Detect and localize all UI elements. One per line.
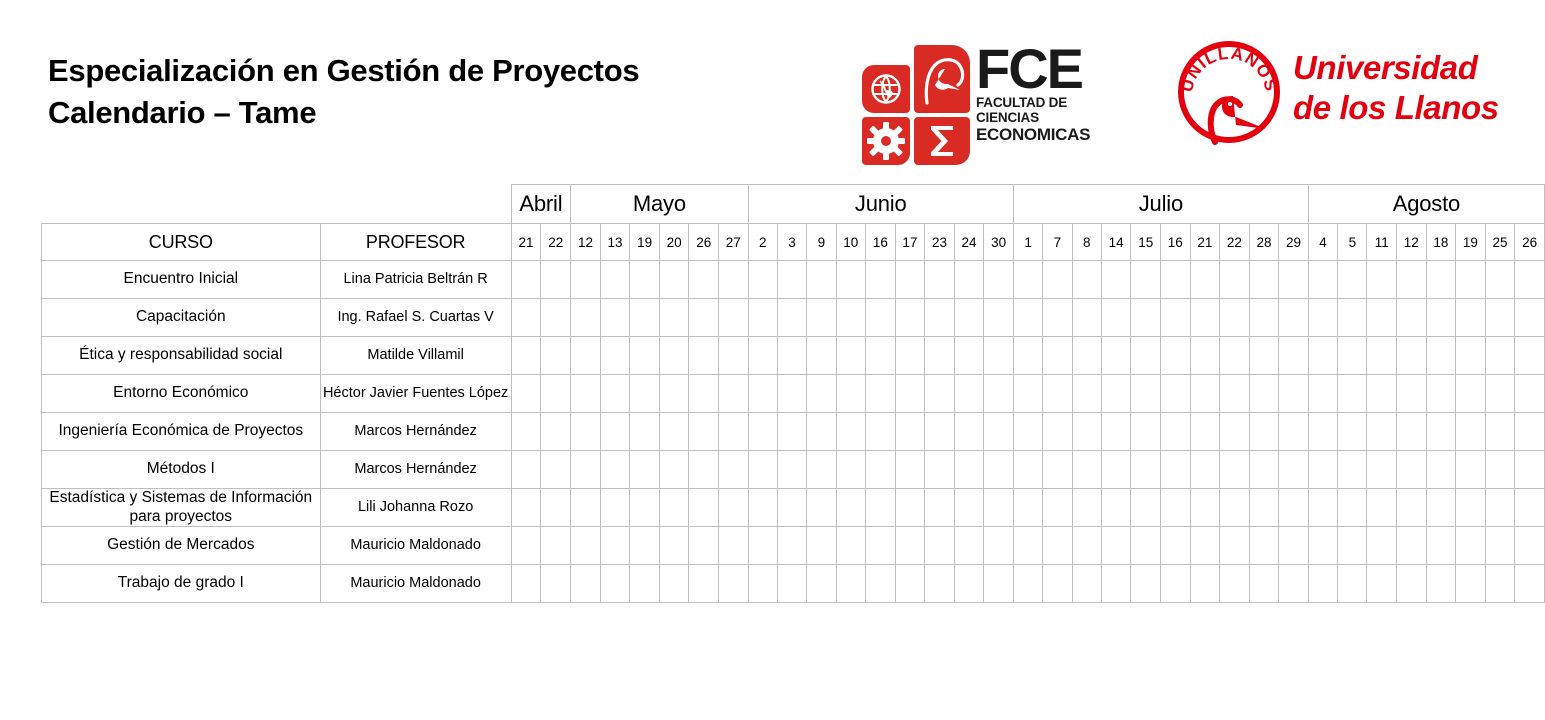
schedule-cell[interactable] — [984, 451, 1014, 489]
schedule-cell[interactable] — [1338, 299, 1367, 337]
schedule-cell[interactable] — [511, 527, 541, 565]
schedule-cell[interactable] — [954, 337, 984, 375]
schedule-cell[interactable] — [511, 413, 541, 451]
schedule-cell[interactable] — [1072, 261, 1101, 299]
schedule-cell[interactable] — [984, 489, 1014, 527]
schedule-cell[interactable] — [1279, 261, 1309, 299]
schedule-cell[interactable] — [1161, 489, 1191, 527]
schedule-cell[interactable] — [866, 337, 896, 375]
schedule-cell[interactable] — [630, 413, 660, 451]
schedule-cell[interactable] — [984, 337, 1014, 375]
schedule-cell[interactable] — [1101, 375, 1131, 413]
schedule-cell[interactable] — [1308, 299, 1337, 337]
schedule-cell[interactable] — [1131, 299, 1161, 337]
schedule-cell[interactable] — [1367, 337, 1397, 375]
schedule-cell[interactable] — [748, 261, 777, 299]
schedule-cell[interactable] — [925, 527, 955, 565]
schedule-cell[interactable] — [1043, 261, 1072, 299]
schedule-cell[interactable] — [1456, 489, 1486, 527]
schedule-cell[interactable] — [541, 337, 571, 375]
schedule-cell[interactable] — [748, 375, 777, 413]
schedule-cell[interactable] — [511, 451, 541, 489]
schedule-cell[interactable] — [807, 261, 836, 299]
schedule-cell[interactable] — [1190, 261, 1220, 299]
schedule-cell[interactable] — [1072, 565, 1101, 603]
schedule-cell[interactable] — [659, 489, 689, 527]
schedule-cell[interactable] — [1013, 451, 1042, 489]
schedule-cell[interactable] — [571, 261, 601, 299]
schedule-cell[interactable] — [1367, 375, 1397, 413]
schedule-cell[interactable] — [1101, 527, 1131, 565]
schedule-cell[interactable] — [1456, 413, 1486, 451]
schedule-cell[interactable] — [1161, 413, 1191, 451]
schedule-cell[interactable] — [1013, 261, 1042, 299]
schedule-cell[interactable] — [1338, 261, 1367, 299]
schedule-cell[interactable] — [1190, 337, 1220, 375]
schedule-cell-active[interactable] — [718, 337, 748, 375]
schedule-cell[interactable] — [836, 299, 866, 337]
schedule-cell[interactable] — [925, 337, 955, 375]
schedule-cell-active[interactable] — [511, 261, 541, 299]
schedule-cell[interactable] — [1101, 451, 1131, 489]
schedule-cell[interactable] — [1456, 565, 1486, 603]
schedule-cell[interactable] — [1426, 565, 1456, 603]
schedule-cell[interactable] — [984, 375, 1014, 413]
schedule-cell-active[interactable] — [571, 299, 601, 337]
schedule-cell[interactable] — [571, 565, 601, 603]
schedule-cell[interactable] — [1426, 527, 1456, 565]
schedule-cell[interactable] — [1190, 299, 1220, 337]
schedule-cell[interactable] — [1190, 375, 1220, 413]
schedule-cell[interactable] — [541, 565, 571, 603]
schedule-cell[interactable] — [1426, 451, 1456, 489]
schedule-cell[interactable] — [659, 565, 689, 603]
schedule-cell[interactable] — [925, 489, 955, 527]
schedule-cell[interactable] — [1131, 337, 1161, 375]
schedule-cell[interactable] — [689, 565, 719, 603]
schedule-cell[interactable] — [777, 565, 806, 603]
schedule-cell[interactable] — [659, 299, 689, 337]
schedule-cell[interactable] — [571, 413, 601, 451]
schedule-cell[interactable] — [1279, 565, 1309, 603]
schedule-cell[interactable] — [1338, 413, 1367, 451]
schedule-cell[interactable] — [1308, 527, 1337, 565]
schedule-cell[interactable] — [1190, 527, 1220, 565]
schedule-cell[interactable] — [1485, 299, 1515, 337]
schedule-cell[interactable] — [1013, 565, 1042, 603]
schedule-cell[interactable] — [1367, 299, 1397, 337]
schedule-cell[interactable] — [807, 527, 836, 565]
schedule-cell[interactable] — [511, 489, 541, 527]
schedule-cell[interactable] — [1279, 299, 1309, 337]
schedule-cell[interactable] — [1397, 375, 1427, 413]
schedule-cell[interactable] — [1426, 489, 1456, 527]
schedule-cell[interactable] — [1043, 299, 1072, 337]
schedule-cell[interactable] — [954, 489, 984, 527]
schedule-cell-active[interactable] — [1249, 451, 1279, 489]
schedule-cell[interactable] — [1397, 413, 1427, 451]
schedule-cell[interactable] — [1308, 451, 1337, 489]
schedule-cell[interactable] — [748, 565, 777, 603]
schedule-cell[interactable] — [600, 337, 630, 375]
schedule-cell[interactable] — [1397, 337, 1427, 375]
schedule-cell[interactable] — [807, 413, 836, 451]
schedule-cell[interactable] — [1072, 413, 1101, 451]
schedule-cell[interactable] — [1249, 527, 1279, 565]
schedule-cell[interactable] — [836, 451, 866, 489]
schedule-cell[interactable] — [807, 565, 836, 603]
schedule-cell[interactable] — [925, 565, 955, 603]
schedule-cell[interactable] — [600, 489, 630, 527]
schedule-cell[interactable] — [748, 489, 777, 527]
schedule-cell[interactable] — [630, 527, 660, 565]
schedule-cell[interactable] — [1220, 299, 1250, 337]
schedule-cell[interactable] — [659, 261, 689, 299]
schedule-cell[interactable] — [925, 375, 955, 413]
schedule-cell[interactable] — [1308, 261, 1337, 299]
schedule-cell[interactable] — [1161, 375, 1191, 413]
schedule-cell-active[interactable] — [1485, 565, 1515, 603]
schedule-cell-active[interactable] — [1161, 565, 1191, 603]
schedule-cell[interactable] — [1190, 489, 1220, 527]
schedule-cell[interactable] — [630, 375, 660, 413]
schedule-cell[interactable] — [925, 451, 955, 489]
schedule-cell[interactable] — [1220, 337, 1250, 375]
schedule-cell[interactable] — [600, 375, 630, 413]
schedule-cell[interactable] — [1515, 375, 1545, 413]
schedule-cell-active[interactable] — [600, 299, 630, 337]
schedule-cell[interactable] — [1338, 489, 1367, 527]
schedule-cell[interactable] — [836, 337, 866, 375]
schedule-cell[interactable] — [630, 451, 660, 489]
schedule-cell[interactable] — [1456, 527, 1486, 565]
schedule-cell[interactable] — [1308, 413, 1337, 451]
schedule-cell[interactable] — [748, 299, 777, 337]
schedule-cell[interactable] — [1338, 451, 1367, 489]
schedule-cell[interactable] — [1338, 565, 1367, 603]
schedule-cell[interactable] — [1043, 337, 1072, 375]
schedule-cell-active[interactable] — [1367, 527, 1397, 565]
schedule-cell[interactable] — [1131, 375, 1161, 413]
schedule-cell[interactable] — [1308, 375, 1337, 413]
schedule-cell[interactable] — [630, 337, 660, 375]
schedule-cell[interactable] — [1220, 565, 1250, 603]
schedule-cell[interactable] — [895, 261, 925, 299]
schedule-cell[interactable] — [571, 451, 601, 489]
schedule-cell[interactable] — [954, 451, 984, 489]
schedule-cell[interactable] — [807, 451, 836, 489]
schedule-cell[interactable] — [984, 299, 1014, 337]
schedule-cell[interactable] — [1161, 451, 1191, 489]
schedule-cell[interactable] — [659, 337, 689, 375]
schedule-cell[interactable] — [1072, 375, 1101, 413]
schedule-cell[interactable] — [1013, 527, 1042, 565]
schedule-cell-active[interactable] — [600, 565, 630, 603]
schedule-cell[interactable] — [1426, 261, 1456, 299]
schedule-cell[interactable] — [1456, 375, 1486, 413]
schedule-cell[interactable] — [1485, 261, 1515, 299]
schedule-cell[interactable] — [777, 413, 806, 451]
schedule-cell[interactable] — [1367, 565, 1397, 603]
schedule-cell[interactable] — [1190, 413, 1220, 451]
schedule-cell[interactable] — [925, 299, 955, 337]
schedule-cell[interactable] — [659, 375, 689, 413]
schedule-cell[interactable] — [1101, 413, 1131, 451]
schedule-cell[interactable] — [1131, 451, 1161, 489]
schedule-cell[interactable] — [1043, 413, 1072, 451]
schedule-cell[interactable] — [1072, 451, 1101, 489]
schedule-cell[interactable] — [866, 299, 896, 337]
schedule-cell[interactable] — [895, 565, 925, 603]
schedule-cell[interactable] — [1485, 451, 1515, 489]
schedule-cell[interactable] — [1131, 413, 1161, 451]
schedule-cell[interactable] — [1308, 565, 1337, 603]
schedule-cell[interactable] — [659, 527, 689, 565]
schedule-cell[interactable] — [895, 451, 925, 489]
schedule-cell[interactable] — [1367, 489, 1397, 527]
schedule-cell[interactable] — [1072, 299, 1101, 337]
schedule-cell[interactable] — [1190, 565, 1220, 603]
schedule-cell[interactable] — [689, 375, 719, 413]
schedule-cell-active[interactable] — [807, 375, 836, 413]
schedule-cell-active[interactable] — [1279, 451, 1309, 489]
schedule-cell[interactable] — [954, 413, 984, 451]
schedule-cell[interactable] — [866, 261, 896, 299]
schedule-cell[interactable] — [895, 413, 925, 451]
schedule-cell[interactable] — [836, 413, 866, 451]
schedule-cell[interactable] — [1426, 375, 1456, 413]
schedule-cell[interactable] — [1161, 527, 1191, 565]
schedule-cell[interactable] — [748, 451, 777, 489]
schedule-cell[interactable] — [925, 261, 955, 299]
schedule-cell[interactable] — [1220, 527, 1250, 565]
schedule-cell[interactable] — [1397, 261, 1427, 299]
schedule-cell[interactable] — [807, 489, 836, 527]
schedule-cell[interactable] — [1279, 413, 1309, 451]
schedule-cell[interactable] — [1131, 527, 1161, 565]
schedule-cell[interactable] — [1013, 375, 1042, 413]
schedule-cell[interactable] — [1456, 261, 1486, 299]
schedule-cell[interactable] — [600, 413, 630, 451]
schedule-cell[interactable] — [1101, 337, 1131, 375]
schedule-cell[interactable] — [1515, 413, 1545, 451]
schedule-cell[interactable] — [718, 261, 748, 299]
schedule-cell[interactable] — [1426, 299, 1456, 337]
schedule-cell[interactable] — [1101, 565, 1131, 603]
schedule-cell[interactable] — [1043, 527, 1072, 565]
schedule-cell[interactable] — [541, 261, 571, 299]
schedule-cell[interactable] — [866, 565, 896, 603]
schedule-cell[interactable] — [571, 375, 601, 413]
schedule-cell[interactable] — [1456, 299, 1486, 337]
schedule-cell[interactable] — [1013, 489, 1042, 527]
schedule-cell[interactable] — [1485, 527, 1515, 565]
schedule-cell-active[interactable] — [1101, 489, 1131, 527]
schedule-cell[interactable] — [866, 375, 896, 413]
schedule-cell[interactable] — [541, 299, 571, 337]
schedule-cell[interactable] — [807, 299, 836, 337]
schedule-cell[interactable] — [1397, 489, 1427, 527]
schedule-cell[interactable] — [777, 261, 806, 299]
schedule-cell[interactable] — [1101, 299, 1131, 337]
schedule-cell[interactable] — [1043, 489, 1072, 527]
schedule-cell[interactable] — [777, 375, 806, 413]
schedule-cell[interactable] — [984, 261, 1014, 299]
schedule-cell[interactable] — [1456, 337, 1486, 375]
schedule-cell[interactable] — [1220, 451, 1250, 489]
schedule-cell[interactable] — [1220, 489, 1250, 527]
schedule-cell[interactable] — [1101, 261, 1131, 299]
schedule-cell[interactable] — [630, 489, 660, 527]
schedule-cell[interactable] — [895, 489, 925, 527]
schedule-cell-active[interactable] — [1013, 413, 1042, 451]
schedule-cell[interactable] — [1367, 451, 1397, 489]
schedule-cell[interactable] — [1515, 565, 1545, 603]
schedule-cell[interactable] — [1220, 261, 1250, 299]
schedule-cell[interactable] — [1485, 337, 1515, 375]
schedule-cell[interactable] — [954, 565, 984, 603]
schedule-cell[interactable] — [1013, 337, 1042, 375]
schedule-cell[interactable] — [689, 261, 719, 299]
schedule-cell[interactable] — [1072, 337, 1101, 375]
schedule-cell[interactable] — [1249, 413, 1279, 451]
schedule-cell[interactable] — [1338, 527, 1367, 565]
schedule-cell[interactable] — [1308, 489, 1337, 527]
schedule-cell[interactable] — [777, 489, 806, 527]
schedule-cell[interactable] — [689, 413, 719, 451]
schedule-cell[interactable] — [1485, 375, 1515, 413]
schedule-cell[interactable] — [511, 337, 541, 375]
schedule-cell[interactable] — [836, 489, 866, 527]
schedule-cell[interactable] — [1426, 413, 1456, 451]
schedule-cell[interactable] — [925, 413, 955, 451]
schedule-cell-active[interactable] — [1131, 489, 1161, 527]
schedule-cell[interactable] — [1161, 337, 1191, 375]
schedule-cell[interactable] — [1043, 375, 1072, 413]
schedule-cell-active[interactable] — [984, 413, 1014, 451]
schedule-cell[interactable] — [748, 413, 777, 451]
schedule-cell[interactable] — [718, 527, 748, 565]
schedule-cell[interactable] — [1249, 489, 1279, 527]
schedule-cell[interactable] — [630, 299, 660, 337]
schedule-cell[interactable] — [984, 527, 1014, 565]
schedule-cell[interactable] — [1161, 299, 1191, 337]
schedule-cell[interactable] — [954, 527, 984, 565]
schedule-cell[interactable] — [866, 413, 896, 451]
schedule-cell[interactable] — [1279, 527, 1309, 565]
schedule-cell[interactable] — [1013, 299, 1042, 337]
schedule-cell[interactable] — [1279, 337, 1309, 375]
schedule-cell[interactable] — [1249, 261, 1279, 299]
schedule-cell[interactable] — [1220, 413, 1250, 451]
schedule-cell[interactable] — [718, 489, 748, 527]
schedule-cell[interactable] — [1249, 337, 1279, 375]
schedule-cell[interactable] — [807, 337, 836, 375]
schedule-cell[interactable] — [1515, 261, 1545, 299]
schedule-cell[interactable] — [954, 261, 984, 299]
schedule-cell[interactable] — [1426, 337, 1456, 375]
schedule-cell[interactable] — [866, 489, 896, 527]
schedule-cell[interactable] — [1072, 527, 1101, 565]
schedule-cell[interactable] — [571, 337, 601, 375]
schedule-cell[interactable] — [895, 375, 925, 413]
schedule-cell[interactable] — [689, 451, 719, 489]
schedule-cell[interactable] — [1190, 451, 1220, 489]
schedule-cell[interactable] — [718, 565, 748, 603]
schedule-cell[interactable] — [1485, 489, 1515, 527]
schedule-cell[interactable] — [571, 489, 601, 527]
schedule-cell[interactable] — [630, 565, 660, 603]
schedule-cell[interactable] — [836, 565, 866, 603]
schedule-cell[interactable] — [1279, 489, 1309, 527]
schedule-cell[interactable] — [1308, 337, 1337, 375]
schedule-cell[interactable] — [1515, 337, 1545, 375]
schedule-cell[interactable] — [511, 375, 541, 413]
schedule-cell[interactable] — [984, 565, 1014, 603]
schedule-cell[interactable] — [748, 527, 777, 565]
schedule-cell[interactable] — [630, 261, 660, 299]
schedule-cell[interactable] — [866, 527, 896, 565]
schedule-cell[interactable] — [541, 489, 571, 527]
schedule-cell[interactable] — [777, 451, 806, 489]
schedule-cell[interactable] — [777, 337, 806, 375]
schedule-cell[interactable] — [659, 413, 689, 451]
schedule-cell[interactable] — [541, 413, 571, 451]
schedule-cell[interactable] — [541, 451, 571, 489]
schedule-cell[interactable] — [659, 451, 689, 489]
schedule-cell[interactable] — [1485, 413, 1515, 451]
schedule-cell[interactable] — [718, 375, 748, 413]
schedule-cell[interactable] — [511, 299, 541, 337]
schedule-cell[interactable] — [689, 489, 719, 527]
schedule-cell-active[interactable] — [1515, 451, 1545, 489]
schedule-cell[interactable] — [836, 527, 866, 565]
schedule-cell[interactable] — [689, 527, 719, 565]
schedule-cell[interactable] — [600, 527, 630, 565]
schedule-cell[interactable] — [1249, 565, 1279, 603]
schedule-cell[interactable] — [895, 527, 925, 565]
schedule-cell[interactable] — [718, 451, 748, 489]
schedule-cell[interactable] — [1397, 451, 1427, 489]
schedule-cell[interactable] — [1131, 565, 1161, 603]
schedule-cell[interactable] — [1515, 489, 1545, 527]
schedule-cell[interactable] — [1249, 375, 1279, 413]
schedule-cell[interactable] — [777, 299, 806, 337]
schedule-cell-active[interactable] — [689, 337, 719, 375]
schedule-cell[interactable] — [748, 337, 777, 375]
schedule-cell[interactable] — [1043, 451, 1072, 489]
schedule-cell[interactable] — [1367, 413, 1397, 451]
schedule-cell[interactable] — [571, 527, 601, 565]
schedule-cell[interactable] — [1397, 565, 1427, 603]
schedule-cell[interactable] — [600, 451, 630, 489]
schedule-cell[interactable] — [541, 375, 571, 413]
schedule-cell[interactable] — [1367, 261, 1397, 299]
schedule-cell[interactable] — [1338, 337, 1367, 375]
schedule-cell[interactable] — [689, 299, 719, 337]
schedule-cell[interactable] — [895, 337, 925, 375]
schedule-cell[interactable] — [1279, 375, 1309, 413]
schedule-cell[interactable] — [954, 375, 984, 413]
schedule-cell[interactable] — [718, 299, 748, 337]
schedule-cell[interactable] — [866, 451, 896, 489]
schedule-cell[interactable] — [895, 299, 925, 337]
schedule-cell[interactable] — [1220, 375, 1250, 413]
schedule-cell[interactable] — [600, 261, 630, 299]
schedule-cell[interactable] — [511, 565, 541, 603]
schedule-cell[interactable] — [1456, 451, 1486, 489]
schedule-cell[interactable] — [1161, 261, 1191, 299]
